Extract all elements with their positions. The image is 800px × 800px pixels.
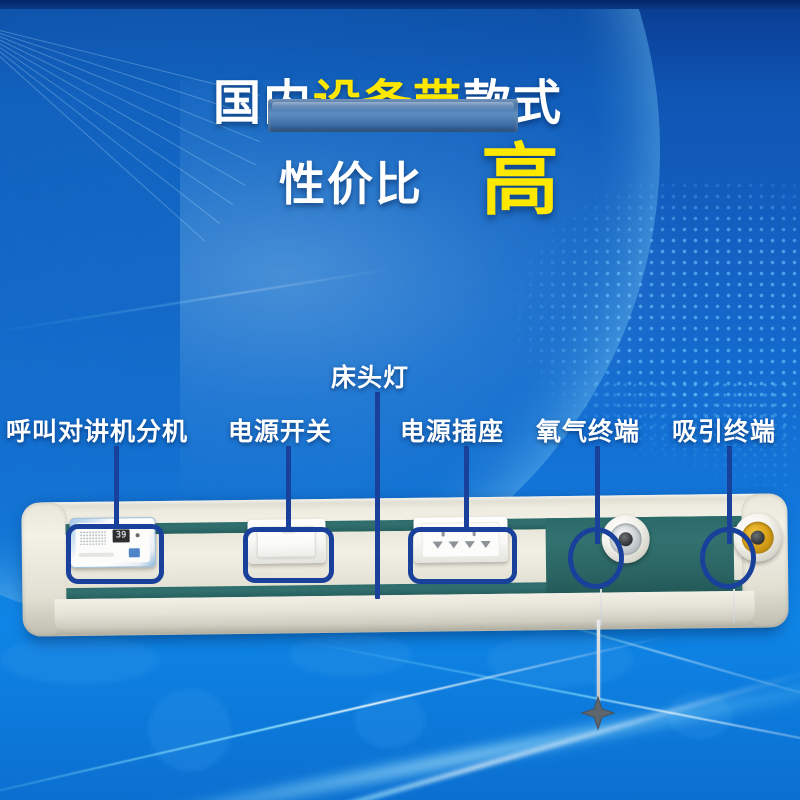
intercom-label-strip	[79, 553, 114, 557]
status-led-indicator	[136, 533, 140, 537]
intercom-display: 39	[113, 529, 130, 542]
rocker-switch-button[interactable]	[257, 526, 316, 558]
socket-pin-c	[465, 541, 475, 548]
medical-bedhead-unit: 39	[25, 493, 783, 636]
bed-lamp-gloss-highlight	[272, 102, 514, 111]
suction-terminal-port	[751, 531, 765, 545]
halftone-dot-pattern-secondary	[590, 380, 790, 490]
suction-terminal-cord	[733, 589, 735, 623]
intercom-call-button[interactable]	[129, 548, 140, 557]
fan-lines-decoration	[0, 20, 260, 250]
socket-pin-b	[449, 541, 459, 548]
socket-pin-live-right	[473, 529, 476, 536]
oxygen-terminal-cord	[600, 589, 602, 625]
oxygen-terminal-port	[619, 532, 633, 546]
lamp-pull-cord[interactable]	[597, 620, 600, 702]
top-navy-strip	[0, 0, 800, 9]
product-banner: 国内设备带款式 性价比 高 39	[0, 0, 800, 800]
speaker-grille-icon	[80, 531, 106, 545]
socket-pin-live-left	[442, 530, 445, 537]
oxygen-terminal[interactable]	[601, 515, 650, 564]
suction-terminal[interactable]	[733, 513, 782, 562]
socket-pin-d	[481, 541, 491, 548]
nurse-call-intercom-device[interactable]: 39	[69, 517, 156, 568]
rocker-notch	[282, 531, 296, 533]
pull-cord-handle-icon[interactable]	[578, 693, 618, 733]
socket-pin-a	[433, 542, 443, 549]
socket-well	[421, 522, 499, 558]
power-socket-plate[interactable]	[413, 517, 508, 563]
power-switch-plate[interactable]	[247, 519, 326, 564]
